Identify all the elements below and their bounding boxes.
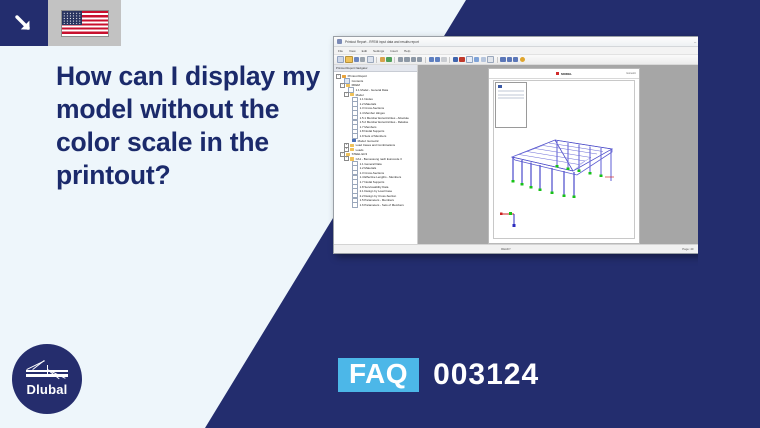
toolbar-separator xyxy=(449,57,450,63)
new-icon[interactable] xyxy=(337,56,344,63)
tree-spacer xyxy=(348,107,351,110)
page-setup-icon[interactable] xyxy=(466,56,473,63)
next-page-icon[interactable] xyxy=(411,57,416,62)
navigator-item-label: 2.2 Design by Cross-Section xyxy=(360,194,397,198)
navigator-item-label: 1.8 Nodal Supports xyxy=(360,129,385,133)
navigator-item-label: 1.7 Nodal Supports xyxy=(360,180,385,184)
header-logo-icon xyxy=(556,72,559,75)
window-body: Printout Report Navigator -Printout Repo… xyxy=(334,65,716,244)
status-message: READY xyxy=(334,247,678,251)
menu-item-help[interactable]: Help xyxy=(404,49,410,53)
language-icon[interactable] xyxy=(507,57,512,62)
tree-spacer xyxy=(348,125,351,128)
menu-item-edit[interactable]: Edit xyxy=(362,49,367,53)
folder-icon xyxy=(350,148,354,151)
graphic-icon[interactable] xyxy=(481,57,486,62)
folder-icon xyxy=(350,144,354,147)
navigator-item-label: Model: Isometric xyxy=(358,139,379,143)
app-icon xyxy=(337,39,342,44)
open-icon[interactable] xyxy=(345,56,352,63)
truss-bridge-icon xyxy=(26,361,68,380)
navigator-item-label: 1.5.2 Member Eccentricities - Relative xyxy=(360,120,409,124)
menu-item-settings[interactable]: Settings xyxy=(373,49,384,53)
tree-spacer xyxy=(348,171,351,174)
selection-icon[interactable] xyxy=(441,57,446,62)
tree-spacer xyxy=(344,89,347,92)
tree-spacer xyxy=(348,98,351,101)
app-window: Printout Report - RFEM input data and re… xyxy=(333,36,717,254)
tree-spacer xyxy=(348,116,351,119)
tree-spacer xyxy=(348,194,351,197)
doc-icon xyxy=(348,87,354,92)
coordinate-axes-icon xyxy=(499,209,521,229)
redo-icon[interactable] xyxy=(386,57,391,62)
zoom-out-icon[interactable] xyxy=(435,57,440,62)
window-title-bar: Printout Report - RFEM input data and re… xyxy=(334,37,716,47)
dlubal-logo: Dlubal xyxy=(12,344,82,414)
navigator-item-label: STEEL EC3 xyxy=(352,152,367,156)
tree-spacer xyxy=(348,167,351,170)
prev-page-icon[interactable] xyxy=(404,57,409,62)
tree-spacer xyxy=(348,112,351,115)
model-info-box xyxy=(495,82,527,128)
page-corner-label: Isometric xyxy=(626,72,636,75)
navigator-item-label: 1.4 Effective Lengths - Members xyxy=(360,175,402,179)
tree-spacer xyxy=(348,162,351,165)
toolbar-separator xyxy=(497,57,498,63)
blue-icon xyxy=(352,139,356,142)
navigator-item-label: CA1 - Bemessung nach Eurocode 3 xyxy=(356,157,402,161)
navigator-item-label: 1.4 Member Hinges xyxy=(360,111,385,115)
navigator-tree-item[interactable]: 1.6 Parameters - Sets of Members xyxy=(336,203,417,208)
tree-spacer xyxy=(348,203,351,206)
printout-report-navigator[interactable]: Printout Report Navigator -Printout Repo… xyxy=(334,65,418,244)
info-box-icon xyxy=(498,85,502,88)
toolbar-separator xyxy=(425,57,426,63)
menu-item-file[interactable]: File xyxy=(338,49,343,53)
slide-canvas: How can I display my model without the c… xyxy=(0,0,760,428)
tree-spacer xyxy=(348,176,351,179)
tree-spacer xyxy=(348,130,351,133)
navigator-item-label: Printout Report xyxy=(348,74,367,78)
last-page-icon[interactable] xyxy=(417,57,422,62)
faq-badge: FAQ xyxy=(338,358,419,392)
toolbar[interactable] xyxy=(334,55,716,65)
tree-spacer xyxy=(348,102,351,105)
navigator-item-label: 1.6 Parameters - Sets of Members xyxy=(360,203,404,207)
help-icon[interactable] xyxy=(520,57,525,62)
tree-expander-icon[interactable]: - xyxy=(344,92,349,97)
window-title: Printout Report - RFEM input data and re… xyxy=(345,40,691,44)
navigator-item-label: 1.5.1 Member Eccentricities - Absolute xyxy=(360,116,409,120)
tree-expander-icon[interactable]: - xyxy=(336,74,341,79)
tree-spacer xyxy=(348,180,351,183)
doc-icon xyxy=(352,202,358,207)
menu-item-insert[interactable]: Insert xyxy=(390,49,398,53)
navigator-item-label: 1.2 Materials xyxy=(360,102,377,106)
status-bar: READY Page: 40 Page: 1 xyxy=(334,244,716,253)
navigator-item-label: 1.7 Members xyxy=(360,125,377,129)
model-isometric-graphic xyxy=(507,129,625,204)
toolbar-separator xyxy=(394,57,395,63)
menu-item-view[interactable]: View xyxy=(349,49,356,53)
toolbar-separator xyxy=(376,57,377,63)
tree-spacer xyxy=(348,199,351,202)
navigator-item-label: Loads xyxy=(356,148,364,152)
background-navy-right-edge xyxy=(698,0,760,428)
arrow-down-right-icon xyxy=(0,0,48,46)
print-icon[interactable] xyxy=(360,57,365,62)
first-page-icon[interactable] xyxy=(398,57,403,62)
print-setup-icon[interactable] xyxy=(513,57,518,62)
navigator-item-label: Contents xyxy=(352,79,364,83)
us-flag-icon xyxy=(48,0,121,46)
settings-icon[interactable] xyxy=(500,57,505,62)
page-icon xyxy=(344,78,350,83)
navigator-tree[interactable]: -Printout ReportContents-RFEM1.1 Model -… xyxy=(334,72,417,244)
faq-number: 003124 xyxy=(433,358,539,392)
export-icon[interactable] xyxy=(487,56,494,63)
tree-spacer xyxy=(348,139,351,142)
navigator-item-label: Load Cases and Combinations xyxy=(356,143,396,147)
page-title: How can I display my model without the c… xyxy=(56,60,336,192)
print-preview-icon[interactable] xyxy=(367,56,374,63)
save-icon[interactable] xyxy=(354,57,359,62)
top-left-badges xyxy=(0,0,121,46)
model-title: MODEL xyxy=(561,72,572,76)
undo-icon[interactable] xyxy=(380,57,385,62)
zoom-in-icon[interactable] xyxy=(429,57,434,62)
navigator-item-label: 2.1 Design by Load Case xyxy=(360,189,392,193)
tree-spacer xyxy=(340,79,343,82)
navigator-item-label: 1.1 General Data xyxy=(360,162,382,166)
navigator-item-label: 1.3 Cross-Sections xyxy=(360,106,384,110)
tree-spacer xyxy=(348,135,351,138)
tree-expander-icon[interactable]: - xyxy=(340,83,345,88)
faq-footer: FAQ 003124 xyxy=(338,358,539,392)
report-preview-pane[interactable]: MODEL Isometric xyxy=(418,65,710,244)
navigator-item-label: 1.2 Materials xyxy=(360,166,377,170)
minimize-icon[interactable]: – xyxy=(694,40,696,44)
navigator-item-label: 1.3 Cross-Sections xyxy=(360,171,384,175)
navigator-item-label: 1.1 Nodes xyxy=(360,97,373,101)
navigator-item-label: 1.5 Parameters - Members xyxy=(360,198,394,202)
page-header: MODEL Isometric xyxy=(489,69,639,79)
report-page: MODEL Isometric xyxy=(488,68,640,244)
table-icon[interactable] xyxy=(474,57,479,62)
tree-spacer xyxy=(348,185,351,188)
tree-spacer xyxy=(348,121,351,124)
folder-icon xyxy=(350,93,354,96)
navigator-header: Printout Report Navigator xyxy=(334,65,417,72)
navigator-item-label: 1.9 Sets of Members xyxy=(360,134,387,138)
navigator-item-label: 1.1 Model - General Data xyxy=(356,88,388,92)
tree-spacer xyxy=(348,190,351,193)
status-page-left: Page: 40 xyxy=(682,247,693,251)
navigator-item-label: 1.8 Serviceability Data xyxy=(360,185,389,189)
logo-text: Dlubal xyxy=(27,382,68,397)
header-icon[interactable] xyxy=(459,57,464,62)
cover-sheet-icon[interactable] xyxy=(453,57,458,62)
menu-bar[interactable]: File View Edit Settings Insert Help xyxy=(334,47,716,55)
tree-expander-icon[interactable]: - xyxy=(344,156,349,161)
